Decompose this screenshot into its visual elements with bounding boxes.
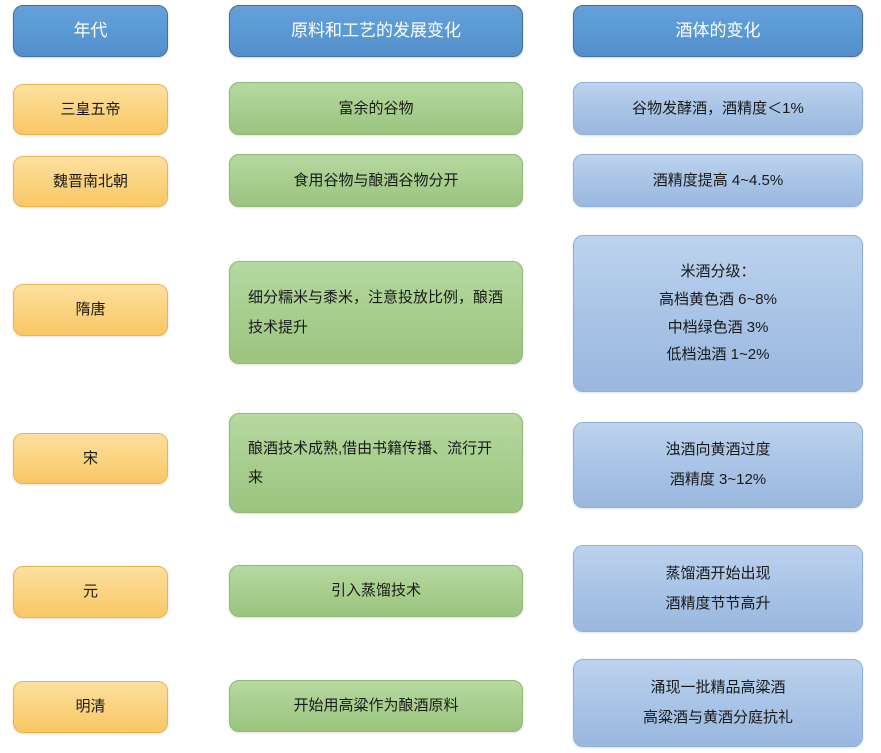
header-process: 原料和工艺的发展变化: [229, 5, 523, 57]
process-cell-1: 富余的谷物: [229, 82, 523, 135]
process-cell-6: 开始用高粱作为酿酒原料: [229, 680, 523, 732]
liquor-cell-1: 谷物发酵酒，酒精度＜1%: [573, 82, 863, 135]
liquor-cell-5: 蒸馏酒开始出现 酒精度节节高升: [573, 545, 863, 632]
era-cell-1: 三皇五帝: [13, 84, 168, 135]
era-cell-4: 宋: [13, 433, 168, 484]
era-cell-3: 隋唐: [13, 284, 168, 336]
process-cell-2: 食用谷物与酿酒谷物分开: [229, 154, 523, 207]
era-cell-5: 元: [13, 566, 168, 618]
liquor-cell-2: 酒精度提高 4~4.5%: [573, 154, 863, 207]
diagram-canvas: 年代 原料和工艺的发展变化 酒体的变化 三皇五帝 富余的谷物 谷物发酵酒，酒精度…: [0, 0, 881, 753]
header-liquor: 酒体的变化: [573, 5, 863, 57]
era-cell-2: 魏晋南北朝: [13, 156, 168, 207]
header-era: 年代: [13, 5, 168, 57]
liquor-cell-6: 涌现一批精品高粱酒 高粱酒与黄酒分庭抗礼: [573, 659, 863, 747]
liquor-cell-4: 浊酒向黄酒过度 酒精度 3~12%: [573, 422, 863, 508]
process-cell-5: 引入蒸馏技术: [229, 565, 523, 617]
liquor-cell-3: 米酒分级： 高档黄色酒 6~8% 中档绿色酒 3% 低档浊酒 1~2%: [573, 235, 863, 392]
era-cell-6: 明清: [13, 681, 168, 733]
process-cell-4: 酿酒技术成熟,借由书籍传播、流行开来: [229, 413, 523, 513]
process-cell-3: 细分糯米与黍米，注意投放比例，酿酒技术提升: [229, 261, 523, 364]
